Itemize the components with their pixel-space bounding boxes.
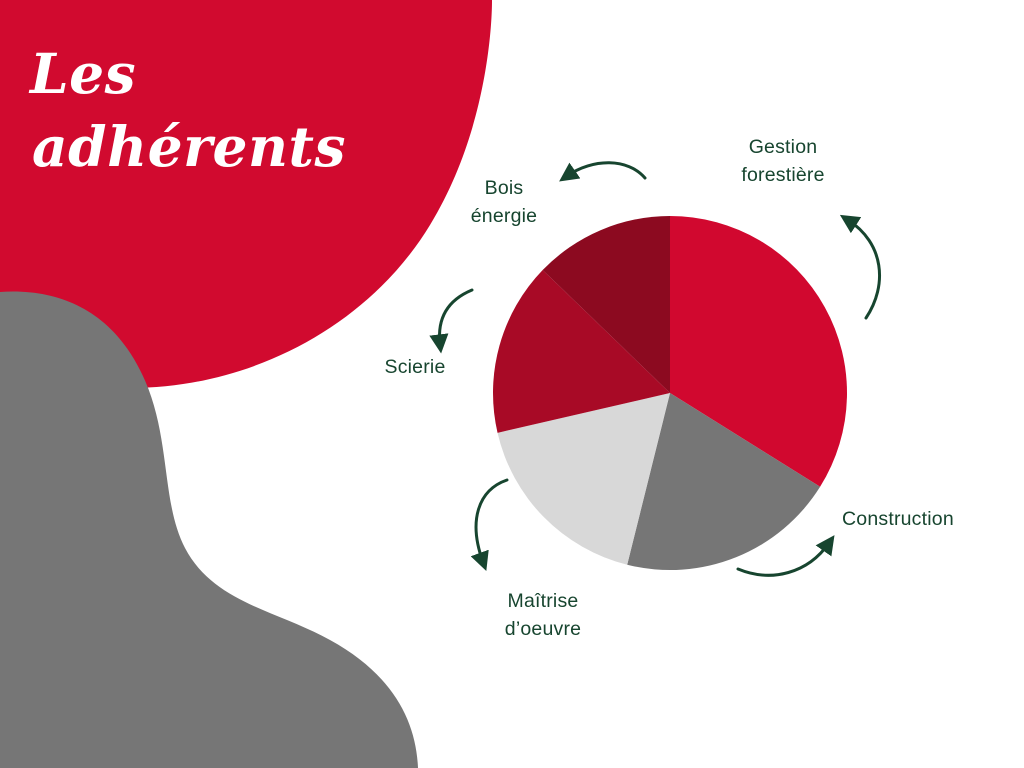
pie-chart <box>493 216 847 570</box>
pie-chart-svg <box>493 216 847 570</box>
pie-label-bois-energie: Bois énergie <box>434 174 574 231</box>
pie-label-maitrise-doeuvre: Maîtrise d’oeuvre <box>468 587 618 644</box>
title-line-2: adhérents <box>32 111 430 184</box>
pie-label-gestion-forestiere-line1: Gestion <box>703 133 863 161</box>
pie-label-scierie-line1: Scierie <box>360 353 470 381</box>
title-line-1: Les <box>30 38 430 111</box>
pie-label-gestion-forestiere-line2: forestière <box>703 161 863 189</box>
page-title: Les adhérents <box>30 38 430 183</box>
pie-label-construction: Construction <box>842 505 1022 533</box>
pie-label-bois-energie-line1: Bois <box>434 174 574 202</box>
pie-label-construction-line1: Construction <box>842 505 1022 533</box>
pie-label-gestion-forestiere: Gestion forestière <box>703 133 863 190</box>
pie-label-maitrise-doeuvre-line2: d’oeuvre <box>468 615 618 643</box>
pie-label-bois-energie-line2: énergie <box>434 202 574 230</box>
slide-canvas: Les adhérents Gestion forestière Bois én… <box>0 0 1024 768</box>
pie-label-maitrise-doeuvre-line1: Maîtrise <box>468 587 618 615</box>
pie-label-scierie: Scierie <box>360 353 470 381</box>
